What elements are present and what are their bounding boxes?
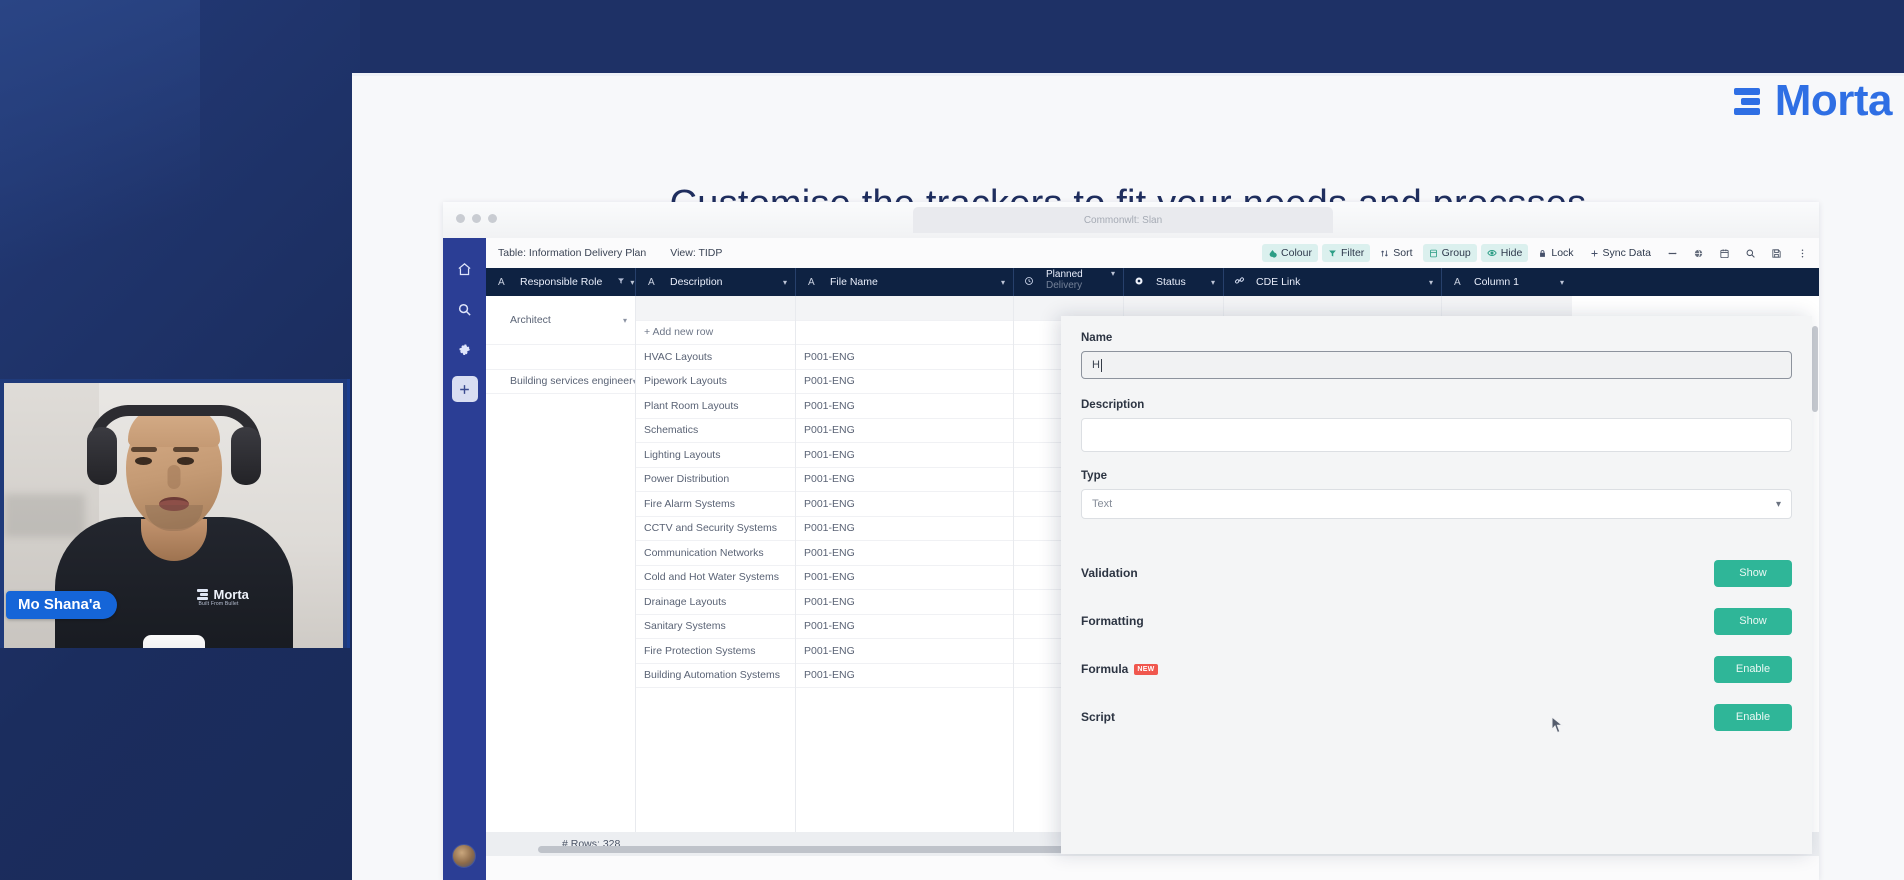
column-header-label: Description [670, 276, 723, 288]
formula-label: Formula NEW [1081, 662, 1158, 676]
text-type-icon: A [808, 277, 815, 288]
link-icon [1234, 275, 1245, 289]
hide-button[interactable]: Hide [1481, 244, 1529, 262]
add-new-row-button[interactable]: + Add new row [636, 321, 795, 346]
table-cell[interactable]: P001-ENG [796, 443, 1013, 468]
table-cell-value: P001-ENG [804, 596, 855, 608]
nose [167, 465, 180, 489]
calendar-icon[interactable] [1713, 243, 1735, 263]
role-value: Building services engineer [510, 375, 633, 387]
participant-name-badge: Mo Shana'a [6, 591, 117, 619]
column-header-label-2: Delivery [1046, 281, 1083, 292]
breadcrumb-view[interactable]: View: TIDP [670, 247, 722, 259]
table-cell[interactable]: P001-ENG [796, 639, 1013, 664]
colour-button[interactable]: Colour [1262, 244, 1318, 262]
group-icon [1429, 249, 1438, 258]
table-cell[interactable] [796, 296, 1013, 321]
table-cell[interactable]: P001-ENG [796, 590, 1013, 615]
table-cell[interactable]: P001-ENG [796, 541, 1013, 566]
maximize-dot-icon[interactable] [488, 214, 497, 223]
slide-top-strip [352, 73, 1904, 76]
eyebrow-left [131, 447, 157, 452]
close-dot-icon[interactable] [456, 214, 465, 223]
background-gradient-corner [0, 0, 200, 300]
table-cell-value: P001-ENG [804, 522, 855, 534]
table-cell-value: P001-ENG [804, 473, 855, 485]
sort-button[interactable]: Sort [1374, 244, 1418, 262]
script-enable-button[interactable]: Enable [1714, 704, 1792, 731]
table-cell[interactable] [796, 321, 1013, 346]
chevron-down-icon[interactable]: ▾ [1211, 278, 1215, 287]
chevron-down-icon[interactable]: ▾ [1001, 278, 1005, 287]
table-cell-value: P001-ENG [804, 620, 855, 632]
role-value: Architect [510, 314, 551, 326]
table-cell-role[interactable]: Building services engineer ▾ [486, 370, 635, 395]
description-field-label: Description [1081, 399, 1792, 411]
column-header-label: Planned [1046, 270, 1083, 281]
eyebrow-right [173, 447, 199, 452]
browser-window-screenshot: Commonwlt: Slan [443, 202, 1819, 880]
chevron-down-icon[interactable]: ▾ [623, 316, 627, 325]
browser-tab[interactable]: Commonwlt: Slan [913, 207, 1333, 233]
role-column-filler [486, 394, 635, 856]
table-cell-value: HVAC Layouts [644, 351, 712, 363]
filter-button[interactable]: Filter [1322, 244, 1370, 262]
table-cell[interactable]: P001-ENG [796, 517, 1013, 542]
eye-right [177, 457, 194, 465]
table-cell-value: CCTV and Security Systems [644, 522, 777, 534]
more-vertical-icon[interactable] [1791, 243, 1813, 263]
sidebar-item-settings[interactable] [452, 336, 478, 362]
headphone-earcup-right [231, 427, 261, 485]
table-cell[interactable]: HVAC Layouts [636, 345, 795, 370]
morta-bars-logo-icon [197, 588, 210, 601]
type-select-value: Text [1092, 498, 1112, 510]
sidebar-item-add[interactable] [452, 376, 478, 402]
table-cell[interactable]: CCTV and Security Systems [636, 517, 795, 542]
morta-app: Table: Information Delivery Plan View: T… [443, 238, 1819, 880]
table-cell[interactable]: Pipework Layouts [636, 370, 795, 395]
link-icon[interactable] [1661, 243, 1683, 263]
lock-icon [1538, 249, 1547, 258]
table-cell[interactable]: Fire Protection Systems [636, 639, 795, 664]
description-textarea[interactable] [1081, 418, 1792, 452]
column-header-description[interactable]: A Description ▾ [636, 268, 796, 296]
validation-show-button[interactable]: Show [1714, 560, 1792, 587]
app-main: Table: Information Delivery Plan View: T… [486, 238, 1819, 880]
table-cell[interactable]: P001-ENG [796, 566, 1013, 591]
sort-arrows-icon [1380, 249, 1389, 258]
mouse-cursor-icon [1551, 716, 1564, 735]
table-cell-value: P001-ENG [804, 400, 855, 412]
formatting-label: Formatting [1081, 614, 1144, 628]
table-cell[interactable]: P001-ENG [796, 419, 1013, 444]
shirt-logo-subtext: Built From Bullet [199, 601, 239, 607]
group-label: Group [1442, 247, 1471, 259]
grid-header-row: A Responsible Role ▾ A Description ▾ [486, 268, 1819, 296]
table-cell-value: P001-ENG [804, 424, 855, 436]
screen-root: Morta Customise the trackers to fit your… [0, 0, 1904, 880]
grid-vertical-scrollbar[interactable] [1812, 326, 1818, 412]
column-header-label: File Name [830, 276, 878, 288]
table-cell-value: P001-ENG [804, 645, 855, 657]
morta-wordmark: Morta [1775, 79, 1892, 123]
name-field-label: Name [1081, 332, 1792, 344]
shirt-logo-text: Morta [214, 587, 249, 602]
table-cell[interactable]: P001-ENG [796, 615, 1013, 640]
column-header-responsible-role[interactable]: A Responsible Role ▾ [486, 268, 636, 296]
table-cell-value: P001-ENG [804, 547, 855, 559]
sync-data-label: Sync Data [1603, 247, 1651, 259]
table-cell[interactable]: Schematics [636, 419, 795, 444]
table-cell[interactable]: Fire Alarm Systems [636, 492, 795, 517]
minimize-dot-icon[interactable] [472, 214, 481, 223]
colour-label: Colour [1281, 247, 1312, 259]
sort-label: Sort [1393, 247, 1412, 259]
script-label: Script [1081, 710, 1115, 724]
eye-left [135, 457, 152, 465]
webcam-tile[interactable]: Morta Built From Bullet Mo Shana'a [0, 379, 350, 648]
column-header-status[interactable]: Status ▾ [1124, 268, 1224, 296]
eye-icon [1487, 248, 1497, 258]
table-cell-value: Sanitary Systems [644, 620, 726, 632]
table-cell-value: Cold and Hot Water Systems [644, 571, 779, 583]
globe-icon[interactable] [1687, 243, 1709, 263]
table-cell[interactable]: P001-ENG [796, 492, 1013, 517]
shirt-morta-logo: Morta [197, 587, 249, 602]
table-cell-value: Plant Room Layouts [644, 400, 739, 412]
table-cell-value: Drainage Layouts [644, 596, 726, 608]
chevron-down-icon[interactable]: ▾ [1560, 278, 1564, 287]
table-cell-value: Communication Networks [644, 547, 764, 559]
table-cell-value: P001-ENG [804, 351, 855, 363]
column-responsible-role: Architect ▾ Building services engineer ▾ [486, 296, 636, 856]
sidebar-avatar[interactable] [452, 844, 476, 868]
funnel-icon [1328, 249, 1337, 258]
column-header-file-name[interactable]: A File Name ▾ [796, 268, 1014, 296]
table-cell[interactable]: Communication Networks [636, 541, 795, 566]
table-cell[interactable]: Plant Room Layouts [636, 394, 795, 419]
headphone-earcup-left [87, 427, 117, 485]
table-cell[interactable]: P001-ENG [796, 664, 1013, 689]
formula-label-text: Formula [1081, 662, 1128, 676]
name-input[interactable]: H [1081, 351, 1792, 379]
table-cell-value: Fire Protection Systems [644, 645, 755, 657]
sync-data-button[interactable]: Sync Data [1584, 244, 1657, 262]
browser-tab-title: Commonwlt: Slan [1084, 215, 1162, 226]
table-cell[interactable]: P001-ENG [796, 394, 1013, 419]
formatting-show-button[interactable]: Show [1714, 608, 1792, 635]
type-field-label: Type [1081, 470, 1792, 482]
table-cell-value: P001-ENG [804, 571, 855, 583]
coffee-cup [143, 635, 205, 648]
sidebar-item-home[interactable] [452, 256, 478, 282]
validation-row: Validation Show [1081, 549, 1792, 597]
text-type-icon: A [498, 277, 505, 288]
paint-drop-icon [1268, 249, 1277, 258]
search-icon[interactable] [1739, 243, 1761, 263]
column-file-name: P001-ENGP001-ENGP001-ENGP001-ENGP001-ENG… [796, 296, 1014, 856]
table-cell-value: Lighting Layouts [644, 449, 720, 461]
column-header-planned-delivery[interactable]: Planned Delivery ▾ [1014, 268, 1124, 296]
column-description: + Add new rowHVAC LayoutsPipework Layout… [636, 296, 796, 856]
type-select[interactable]: Text ▾ [1081, 489, 1792, 519]
table-cell-value: P001-ENG [804, 375, 855, 387]
text-type-icon: A [1454, 277, 1461, 288]
chevron-down-icon[interactable]: ▾ [630, 278, 634, 287]
clock-icon [1024, 276, 1034, 289]
chevron-down-icon: ▾ [1776, 499, 1781, 510]
funnel-icon[interactable] [607, 276, 625, 288]
lock-label: Lock [1551, 247, 1573, 259]
text-type-icon: A [648, 277, 655, 288]
table-cell-value: Fire Alarm Systems [644, 498, 735, 510]
group-button[interactable]: Group [1423, 244, 1477, 262]
table-cell-value: P001-ENG [804, 449, 855, 461]
toolbar-actions: Colour Filter [1262, 243, 1813, 263]
app-sidebar [443, 238, 486, 880]
name-input-value: H [1092, 359, 1100, 371]
table-cell[interactable]: Power Distribution [636, 468, 795, 493]
column-header-label: CDE Link [1256, 276, 1300, 288]
table-cell-value: Schematics [644, 424, 698, 436]
column-header-label: Responsible Role [520, 276, 602, 288]
table-cell[interactable]: Lighting Layouts [636, 443, 795, 468]
table-cell-value: P001-ENG [804, 498, 855, 510]
plus-icon [1590, 249, 1599, 258]
table-cell-value: P001-ENG [804, 669, 855, 681]
table-cell[interactable] [636, 296, 795, 321]
status-icon [1134, 276, 1144, 289]
morta-bars-logo-icon [1731, 84, 1765, 118]
filter-label: Filter [1341, 247, 1364, 259]
chevron-down-icon[interactable]: ▾ [633, 377, 635, 386]
sidebar-item-search[interactable] [452, 296, 478, 322]
chevron-down-icon[interactable]: ▾ [783, 278, 787, 287]
presentation-slide: Morta Customise the trackers to fit your… [352, 73, 1904, 880]
app-toolbar: Table: Information Delivery Plan View: T… [486, 238, 1819, 268]
breadcrumb-table[interactable]: Table: Information Delivery Plan [498, 247, 646, 259]
new-badge: NEW [1134, 664, 1157, 675]
column-header-cde-link[interactable]: CDE Link ▾ [1224, 268, 1442, 296]
table-cell[interactable]: P001-ENG [796, 345, 1013, 370]
hide-label: Hide [1501, 247, 1523, 259]
table-cell[interactable]: P001-ENG [796, 468, 1013, 493]
table-cell[interactable]: Cold and Hot Water Systems [636, 566, 795, 591]
validation-label: Validation [1081, 566, 1138, 580]
chevron-down-icon[interactable]: ▾ [1111, 270, 1115, 278]
text-cursor [1101, 359, 1102, 372]
table-cell-value: + Add new row [644, 326, 713, 338]
table-cell-role[interactable]: Architect ▾ [486, 296, 635, 345]
browser-chrome: Commonwlt: Slan [443, 202, 1819, 238]
table-cell[interactable]: Drainage Layouts [636, 590, 795, 615]
lock-button[interactable]: Lock [1532, 244, 1579, 262]
table-cell[interactable]: Sanitary Systems [636, 615, 795, 640]
table-cell-value: Power Distribution [644, 473, 729, 485]
formatting-row: Formatting Show [1081, 597, 1792, 645]
table-cell[interactable]: Building Automation Systems [636, 664, 795, 689]
save-icon[interactable] [1765, 243, 1787, 263]
column-header-label: Column 1 [1474, 276, 1519, 288]
table-cell-value: Pipework Layouts [644, 375, 727, 387]
morta-logo: Morta [1731, 79, 1892, 123]
table-cell[interactable]: P001-ENG [796, 370, 1013, 395]
chevron-down-icon[interactable]: ▾ [1429, 278, 1433, 287]
table-cell-value: Building Automation Systems [644, 669, 780, 681]
table-cell-role-spacer [486, 345, 635, 370]
field-settings-panel: Name H Description Type Text ▾ [1061, 316, 1812, 854]
column-header-column-1[interactable]: A Column 1 ▾ [1442, 268, 1572, 296]
column-header-label: Status [1156, 276, 1186, 288]
breadcrumb: Table: Information Delivery Plan View: T… [498, 247, 722, 259]
formula-row: Formula NEW Enable [1081, 645, 1792, 693]
script-row: Script Enable [1081, 693, 1792, 741]
formula-enable-button[interactable]: Enable [1714, 656, 1792, 683]
